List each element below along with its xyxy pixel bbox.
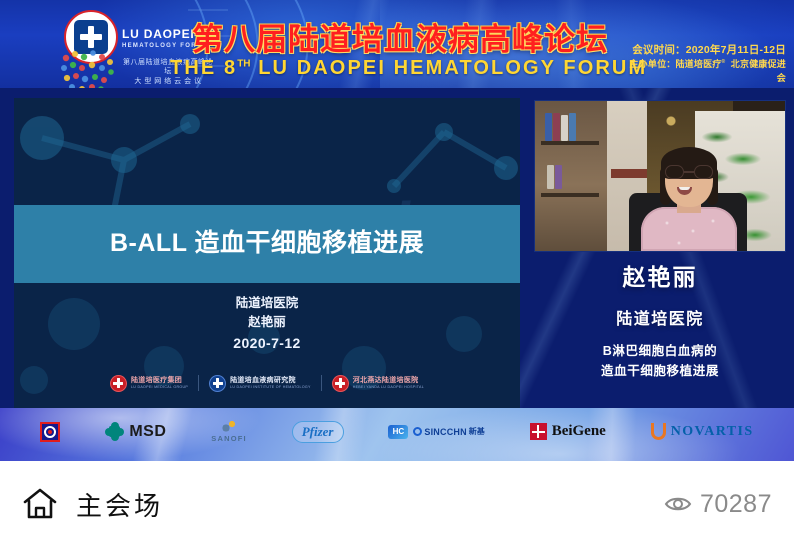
room-indicator[interactable]: 主会场 bbox=[22, 486, 163, 523]
sponsor-logo-sanofi: SANOFI bbox=[211, 420, 247, 443]
sponsor-label: MSD bbox=[129, 423, 166, 441]
eye-icon bbox=[664, 494, 692, 514]
slide-org: 陆道培医院 bbox=[14, 294, 520, 313]
slide-logo-cn: 陆道培医疗集团 bbox=[131, 377, 188, 385]
speaker-webcam-feed[interactable] bbox=[534, 100, 786, 252]
slide-logo-en: HEBEI YANDA LU DAOPEI HOSPITAL bbox=[353, 385, 424, 389]
banner-meta: 会议时间：2020年7月11日-12日 主办单位：陆道培医疗® 北京健康促进会 bbox=[628, 42, 786, 86]
sponsor-logo-strip: MSD SANOFI Pfizer HC SINCCHN 新基 bbox=[0, 408, 794, 461]
slide-logo-divider bbox=[321, 375, 322, 391]
slide-date: 2020-7-12 bbox=[14, 333, 520, 355]
banner-title-en-sup: TH bbox=[237, 58, 250, 69]
hc-mark-icon: HC bbox=[388, 425, 408, 439]
meta-host-2: 北京健康促进会 bbox=[731, 59, 786, 83]
banner-title-en: THE 8TH LU DAOPEI HEMATOLOGY FORUM bbox=[170, 57, 630, 80]
view-count: 70287 bbox=[700, 490, 772, 519]
sponsor-logo-novartis: NOVARTIS bbox=[651, 423, 754, 440]
slide-logo-divider bbox=[198, 375, 199, 391]
meta-host-sup: ® bbox=[722, 59, 726, 65]
sincchn-ring-icon bbox=[413, 427, 422, 436]
meta-time: 会议时间：2020年7月11日-12日 bbox=[628, 42, 786, 58]
beigene-mark-icon bbox=[530, 423, 547, 440]
bookshelf bbox=[535, 101, 607, 252]
speaker-name: 赵艳丽 bbox=[530, 258, 790, 292]
sponsor-mark-icon bbox=[40, 422, 60, 442]
eyeglasses bbox=[665, 165, 713, 179]
sponsor-label: Pfizer bbox=[292, 421, 344, 443]
livestream-page: LU DAOPEI HEMATOLOGY FORUM 第八届陆道培血液病高峰论坛… bbox=[0, 0, 794, 547]
speaker-organization: 陆道培医院 bbox=[530, 305, 790, 329]
video-stage[interactable]: LU DAOPEI HEMATOLOGY FORUM 第八届陆道培血液病高峰论坛… bbox=[0, 0, 794, 461]
presentation-slide[interactable]: Ludaopei B-ALL 造血干细胞移植进展 陆道培医院 赵艳丽 2020-… bbox=[14, 98, 520, 408]
sponsor-label: BeiGene bbox=[552, 423, 606, 440]
slide-footer-logos: 陆道培医疗集团 LU DAOPEI MEDICAL GROUP 陆道培血液病研究… bbox=[14, 370, 520, 396]
sponsor-logo-pfizer: Pfizer bbox=[292, 421, 344, 443]
slide-subtitle: 陆道培医院 赵艳丽 2020-7-12 bbox=[14, 294, 520, 354]
meta-host: 主办单位：陆道培医疗® 北京健康促进会 bbox=[628, 58, 786, 86]
slide-logo-ldp-blood-institute: 陆道培血液病研究院 LU DAOPEI INSTITUTE OF HEMATOL… bbox=[209, 375, 311, 392]
sponsor-logo-beigene: BeiGene bbox=[530, 423, 606, 440]
banner-title-cn: 第八届陆道培血液病高峰论坛 bbox=[170, 14, 630, 59]
slide-logo-cn: 河北燕达陆道培医院 bbox=[353, 377, 424, 385]
speaker-topic-line1: B淋巴细胞白血病的 bbox=[530, 341, 790, 361]
meta-host-1: 主办单位：陆道培医疗 bbox=[629, 59, 721, 69]
cell-cluster-icon bbox=[58, 48, 120, 88]
sponsor-mark-label: HC bbox=[388, 425, 408, 439]
speaker-topic: B淋巴细胞白血病的 造血干细胞移植进展 bbox=[530, 341, 790, 381]
speaker-topic-line2: 造血干细胞移植进展 bbox=[530, 361, 790, 381]
slide-logo-en: LU DAOPEI INSTITUTE OF HEMATOLOGY bbox=[230, 385, 311, 389]
sponsor-logo-msd: MSD bbox=[105, 422, 166, 441]
novartis-mark-icon bbox=[651, 423, 666, 440]
room-title: 主会场 bbox=[76, 486, 163, 523]
sponsor-logo-1 bbox=[40, 422, 60, 442]
sanofi-bird-icon bbox=[221, 420, 237, 433]
sponsor-label: NOVARTIS bbox=[671, 424, 754, 440]
sponsor-label-cn: 新基 bbox=[469, 426, 485, 437]
slide-presenter: 赵艳丽 bbox=[14, 313, 520, 332]
bottom-bar: 主会场 70287 bbox=[0, 461, 794, 547]
view-count-group: 70287 bbox=[664, 490, 772, 519]
ludaopei-logo: LU DAOPEI HEMATOLOGY FORUM 第八届陆道培血液病高峰论坛… bbox=[22, 6, 182, 86]
banner-title-en-prefix: THE 8 bbox=[170, 57, 237, 79]
slide-logo-en: LU DAOPEI MEDICAL GROUP bbox=[131, 385, 188, 389]
speaker-portrait bbox=[641, 147, 737, 251]
slide-logo-ldp-medical-group: 陆道培医疗集团 LU DAOPEI MEDICAL GROUP bbox=[110, 375, 188, 392]
slide-logo-cn: 陆道培血液病研究院 bbox=[230, 377, 311, 385]
conference-banner: LU DAOPEI HEMATOLOGY FORUM 第八届陆道培血液病高峰论坛… bbox=[0, 0, 794, 88]
speaker-info-panel: 赵艳丽 陆道培医院 B淋巴细胞白血病的 造血干细胞移植进展 bbox=[530, 258, 790, 381]
slide-title: B-ALL 造血干细胞移植进展 bbox=[14, 223, 520, 259]
slide-logo-hebei-yanda: 河北燕达陆道培医院 HEBEI YANDA LU DAOPEI HOSPITAL bbox=[332, 375, 424, 392]
sponsor-label: SINCCHN bbox=[424, 427, 466, 437]
home-icon[interactable] bbox=[22, 487, 58, 521]
sponsor-logo-sincchn: HC SINCCHN 新基 bbox=[388, 425, 484, 439]
sponsor-label: SANOFI bbox=[211, 434, 247, 443]
banner-title-en-rest: LU DAOPEI HEMATOLOGY FORUM bbox=[251, 57, 648, 79]
msd-mark-icon bbox=[105, 422, 124, 441]
